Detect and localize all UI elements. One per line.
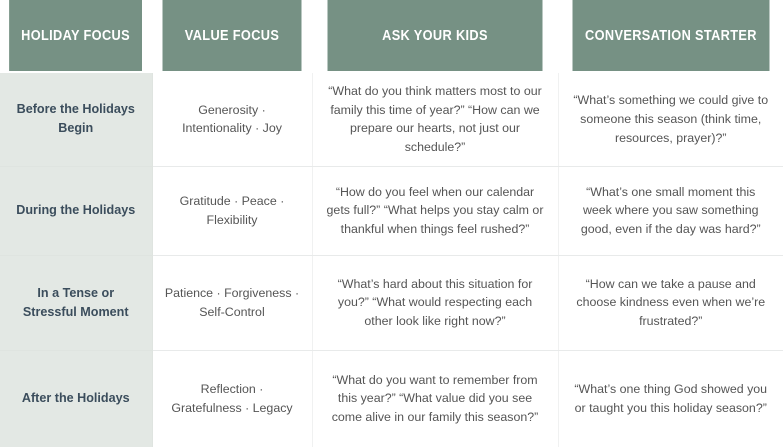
cell-conversation-starter: “How can we take a pause and choose kind…: [558, 255, 783, 350]
cell-holiday-focus: During the Holidays: [0, 166, 152, 255]
table-body: Before the Holidays Begin Generosity · I…: [0, 72, 783, 447]
cell-value-focus: Reflection · Gratefulness · Legacy: [152, 350, 312, 447]
cell-ask-your-kids: “What do you want to remember from this …: [312, 350, 558, 447]
column-header-value-focus: VALUE FOCUS: [162, 0, 303, 72]
column-header-ask-your-kids: ASK YOUR KIDS: [327, 0, 543, 72]
cell-holiday-focus: In a Tense or Stressful Moment: [0, 255, 152, 350]
cell-value-focus: Gratitude · Peace · Flexibility: [152, 166, 312, 255]
cell-ask-your-kids: “How do you feel when our calendar gets …: [312, 166, 558, 255]
table-row: Before the Holidays Begin Generosity · I…: [0, 72, 783, 166]
cell-value-focus: Patience · Forgiveness · Self-Control: [152, 255, 312, 350]
cell-holiday-focus: Before the Holidays Begin: [0, 72, 152, 166]
table-row: After the Holidays Reflection · Grateful…: [0, 350, 783, 447]
cell-conversation-starter: “What’s one small moment this week where…: [558, 166, 783, 255]
column-header-holiday-focus: HOLIDAY FOCUS: [9, 0, 143, 72]
column-header-conversation-starter: CONVERSATION STARTER: [572, 0, 770, 72]
table-header-row: HOLIDAY FOCUS VALUE FOCUS ASK YOUR KIDS …: [0, 0, 783, 72]
cell-conversation-starter: “What’s something we could give to someo…: [558, 72, 783, 166]
holiday-focus-table: HOLIDAY FOCUS VALUE FOCUS ASK YOUR KIDS …: [0, 0, 783, 447]
table-row: During the Holidays Gratitude · Peace · …: [0, 166, 783, 255]
cell-holiday-focus: After the Holidays: [0, 350, 152, 447]
table-header: HOLIDAY FOCUS VALUE FOCUS ASK YOUR KIDS …: [0, 0, 783, 72]
table-row: In a Tense or Stressful Moment Patience …: [0, 255, 783, 350]
cell-ask-your-kids: “What do you think matters most to our f…: [312, 72, 558, 166]
cell-ask-your-kids: “What’s hard about this situation for yo…: [312, 255, 558, 350]
holiday-focus-table-container: HOLIDAY FOCUS VALUE FOCUS ASK YOUR KIDS …: [0, 0, 783, 447]
cell-conversation-starter: “What’s one thing God showed you or taug…: [558, 350, 783, 447]
cell-value-focus: Generosity · Intentionality · Joy: [152, 72, 312, 166]
